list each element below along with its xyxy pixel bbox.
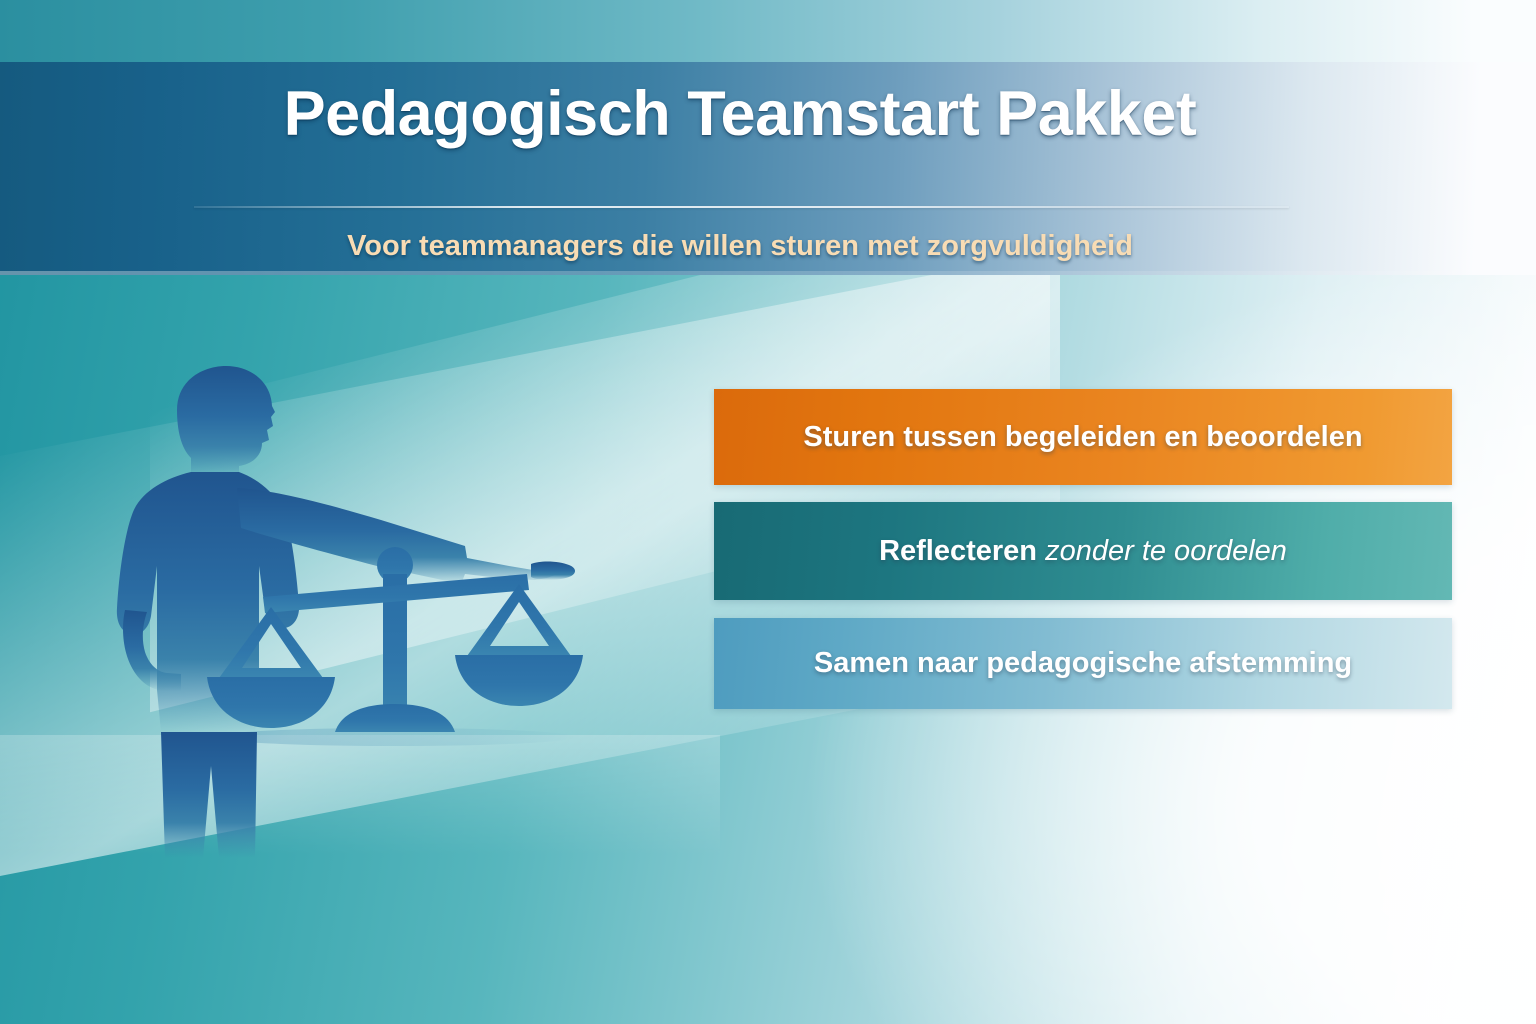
message-bar-label: Sturen tussen begeleiden en beoordelen [783,421,1382,454]
message-bar-label: Samen naar pedagogische afstemming [794,647,1372,680]
header-content: Pedagogisch Teamstart Pakket Voor teamma… [190,62,1300,275]
header-divider [194,206,1289,208]
bar-2-text-plain: Samen naar pedagogische afstemming [814,647,1352,679]
message-bar-reflecteren[interactable]: Reflecteren zonder te oordelen [714,502,1452,600]
page-title: Pedagogisch Teamstart Pakket [190,78,1290,150]
bar-0-text-emphasis: begeleiden en beoordelen [1005,421,1363,453]
slide-canvas: Pedagogisch Teamstart Pakket Voor teamma… [0,0,1536,1024]
message-bar-sturen[interactable]: Sturen tussen begeleiden en beoordelen [714,389,1452,485]
message-bar-samen[interactable]: Samen naar pedagogische afstemming [714,618,1452,709]
message-bar-label: Reflecteren zonder te oordelen [859,535,1307,568]
top-strip-gradient [0,0,1536,62]
header-band: Pedagogisch Teamstart Pakket Voor teamma… [0,62,1536,275]
bar-1-text-emphasis: zonder te oordelen [1037,535,1287,567]
bar-1-text-plain: Reflecteren [879,535,1037,567]
message-bar-list: Sturen tussen begeleiden en beoordelen R… [714,389,1452,709]
bar-0-text-plain: Sturen tussen [803,421,1004,453]
page-subtitle: Voor teammanagers die willen sturen met … [190,230,1290,263]
